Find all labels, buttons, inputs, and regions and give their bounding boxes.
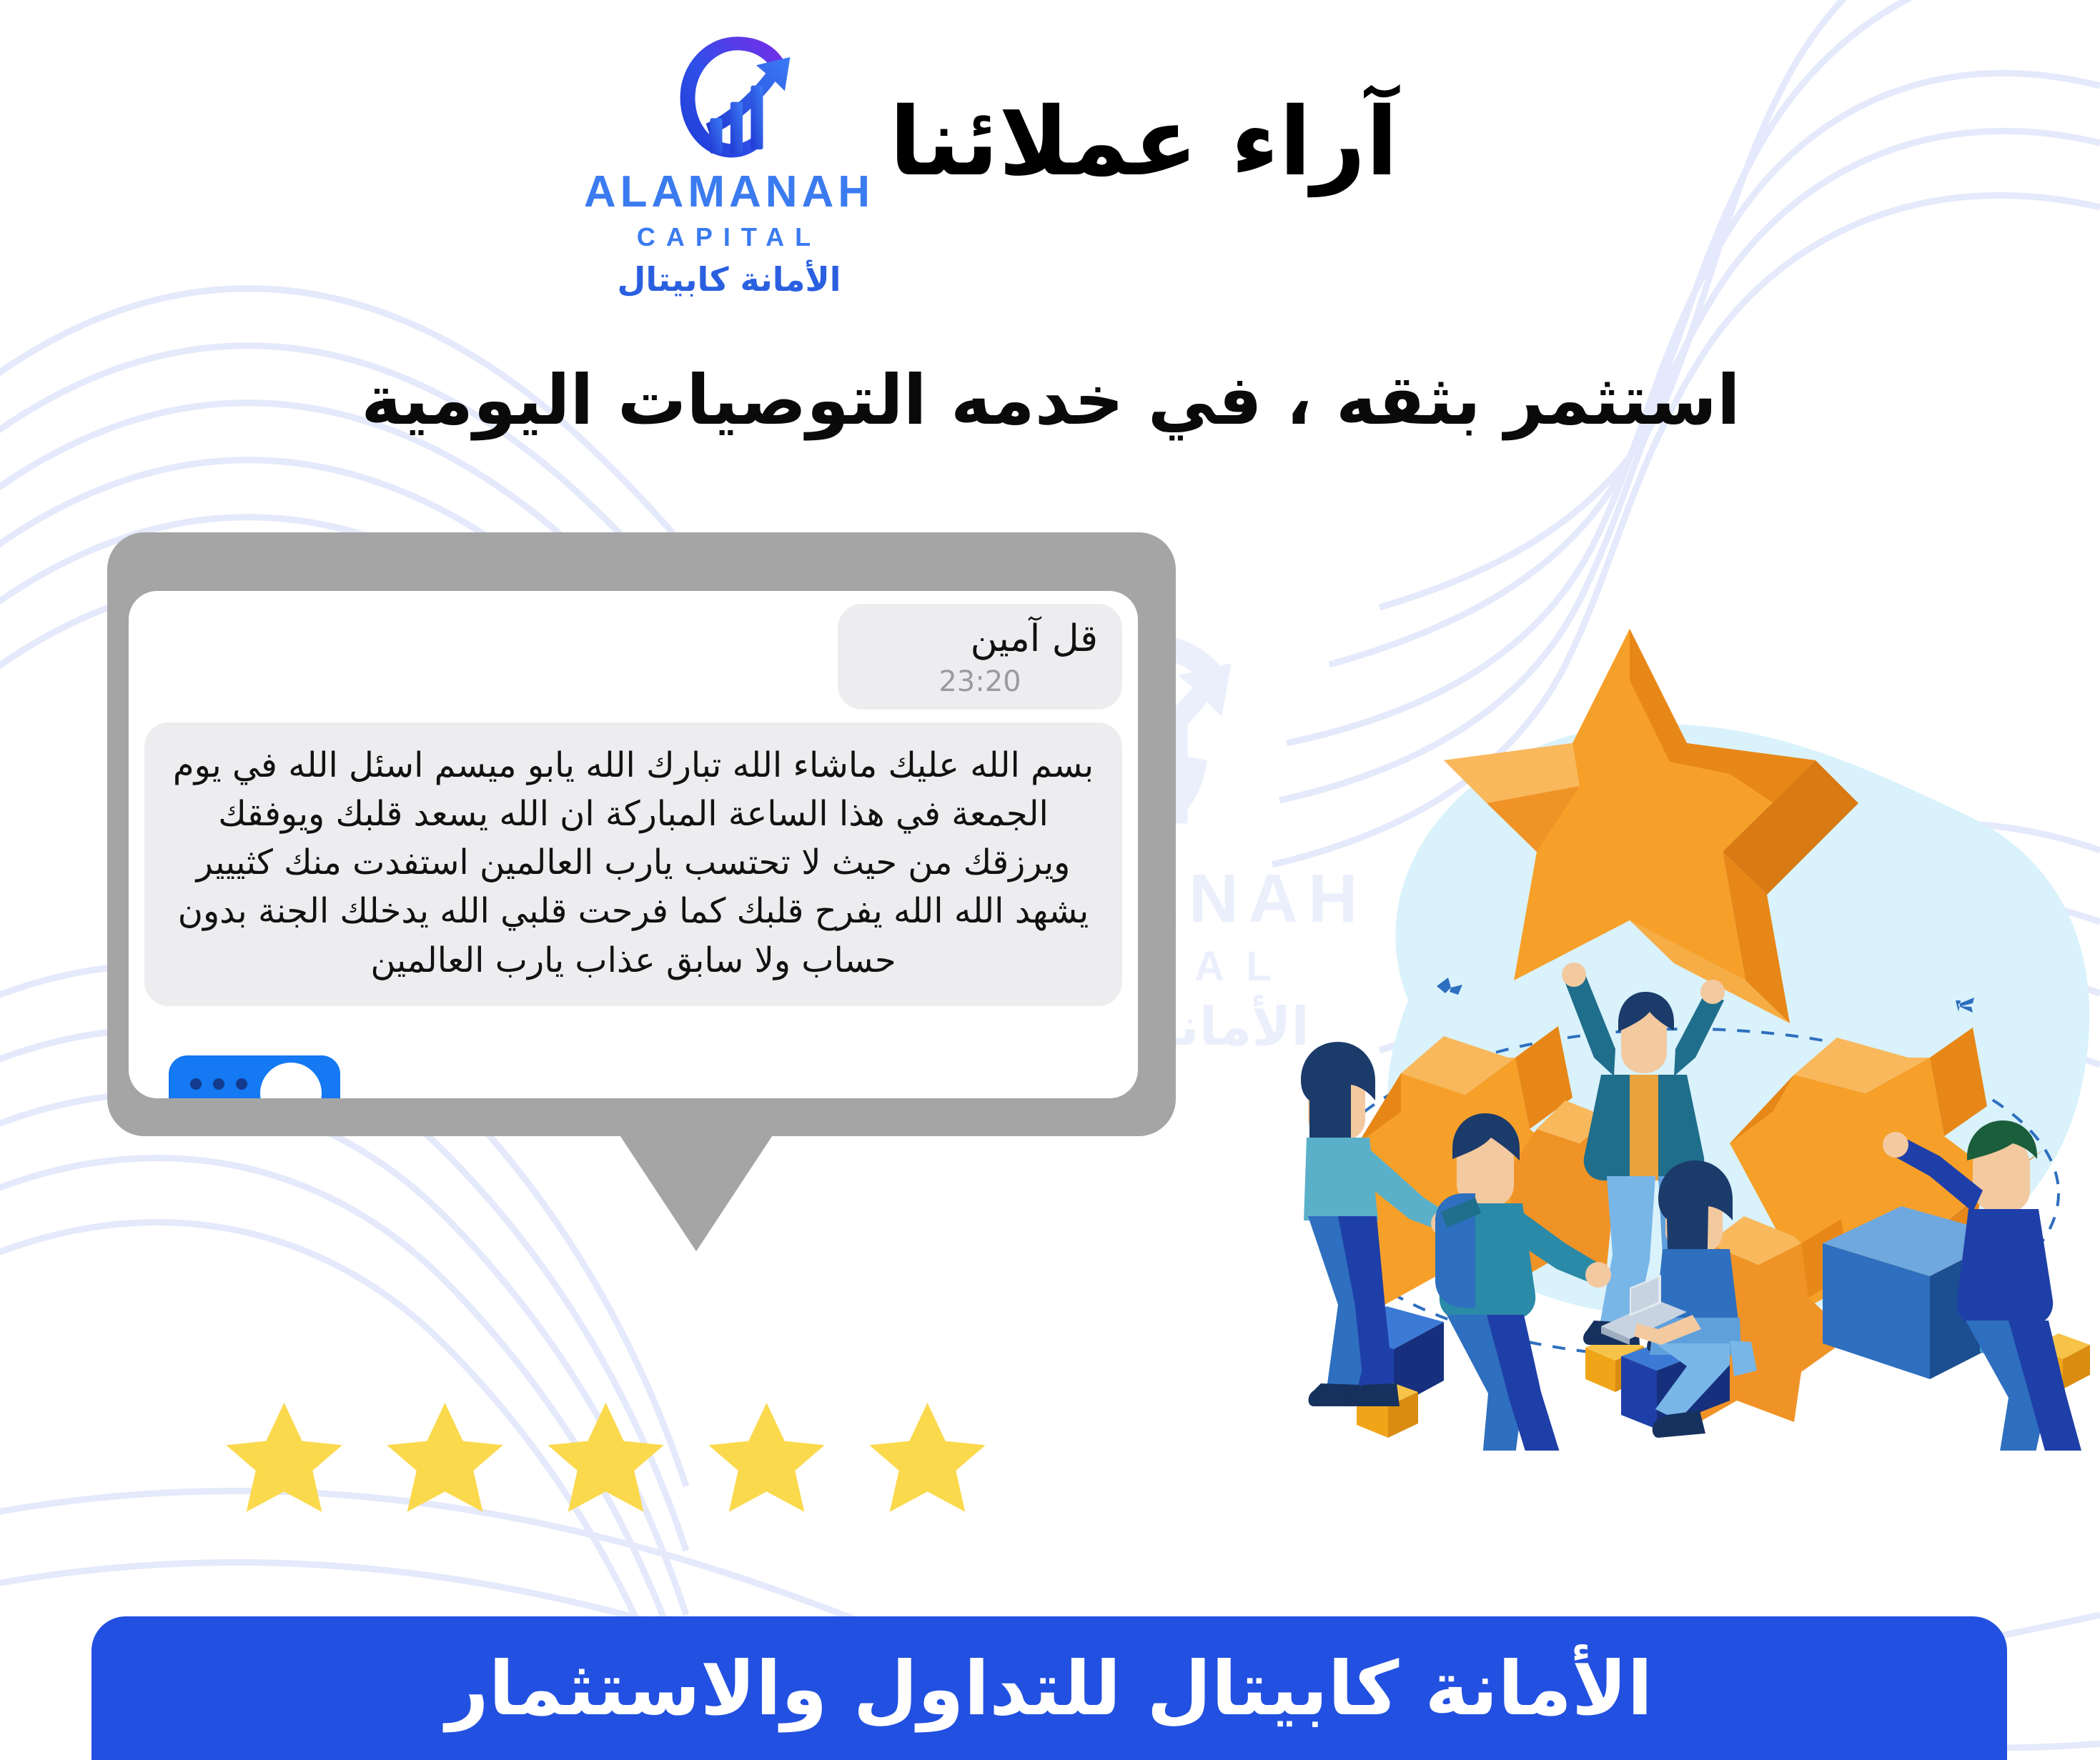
- logo-name: ALAMANAH: [543, 170, 915, 214]
- chat-action-button[interactable]: [169, 1055, 340, 1098]
- testimonial-speech-bubble: قل آمين 23:20 بسم الله عليك ماشاء الله ت…: [107, 532, 1176, 1136]
- logo-tagline: CAPITAL: [543, 224, 915, 250]
- star-icon: [214, 1393, 354, 1533]
- star-icon: [697, 1393, 836, 1533]
- chat-message-text: بسم الله عليك ماشاء الله تبارك الله يابو…: [169, 741, 1098, 985]
- chat-message-timestamp: 23:20: [862, 665, 1098, 698]
- chat-message-short: قل آمين 23:20: [838, 604, 1122, 710]
- chat-action-dots-icon: [190, 1078, 247, 1090]
- star-icon: [536, 1393, 675, 1533]
- rating-stars: [214, 1393, 1015, 1533]
- star-icon: [858, 1393, 997, 1533]
- speech-bubble-tail: [616, 1130, 776, 1251]
- poster-canvas: ALAMANAH CAPITAL الأمانة كابيتال: [0, 0, 2100, 1760]
- chat-screenshot: قل آمين 23:20 بسم الله عليك ماشاء الله ت…: [129, 591, 1138, 1098]
- chat-action-circle-icon: [260, 1063, 322, 1098]
- star-icon: [375, 1393, 515, 1533]
- chat-message-text: قل آمين: [862, 618, 1098, 661]
- brand-logo: ALAMANAH CAPITAL الأمانة كابيتال: [543, 29, 915, 296]
- logo-name-arabic: الأمانة كابيتال: [543, 263, 915, 296]
- page-title: آراء عملائنا: [886, 93, 1401, 192]
- growth-chart-circle-icon: [661, 29, 797, 164]
- page-subtitle: استثمر بثقه ، في خدمه التوصيات اليومية: [129, 357, 1973, 443]
- people-holding-3d-stars-illustration: [1229, 600, 2100, 1451]
- chat-message-long: بسم الله عليك ماشاء الله تبارك الله يابو…: [144, 722, 1122, 1006]
- footer-bar: الأمانة كابيتال للتداول والاستثمار: [91, 1616, 2007, 1760]
- footer-text: الأمانة كابيتال للتداول والاستثمار: [446, 1651, 1653, 1726]
- speech-bubble-frame: قل آمين 23:20 بسم الله عليك ماشاء الله ت…: [107, 532, 1176, 1136]
